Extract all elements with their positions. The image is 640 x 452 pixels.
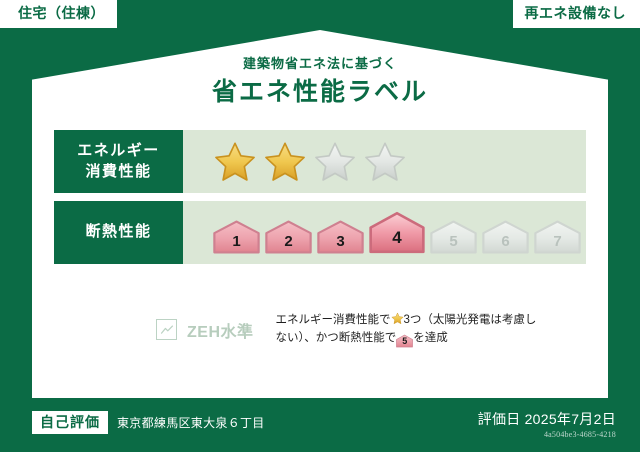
energy-label-line-1: エネルギー	[77, 141, 160, 161]
title-block: 建築物省エネ法に基づく 省エネ性能ラベル	[32, 56, 608, 107]
zeh-desc-star-count: 3つ（太陽光発電	[404, 314, 491, 326]
insulation-performance-value: 1234567	[183, 201, 586, 264]
property-address: 東京都練馬区東大泉６丁目	[117, 414, 265, 431]
insulation-level-value: 3	[336, 233, 344, 255]
insulation-level-value: 5	[449, 233, 457, 255]
energy-performance-value	[183, 130, 586, 193]
insulation-level-value: 7	[553, 233, 561, 255]
zeh-desc-part-1: エネルギー消費性能で	[276, 314, 391, 326]
star-rating	[213, 140, 407, 184]
insulation-level-4: 4	[369, 210, 425, 255]
insulation-level-value: 6	[501, 233, 509, 255]
insulation-level-7: 7	[534, 219, 581, 255]
insulation-performance-label: 断熱性能	[54, 201, 183, 264]
inline-star-icon	[391, 312, 404, 325]
insulation-level-value: 4	[392, 228, 401, 255]
insulation-performance-row: 断熱性能 1234567	[54, 201, 586, 264]
insulation-level-2: 2	[265, 219, 312, 255]
renewable-energy-tag: 再エネ設備なし	[513, 0, 640, 28]
insulation-level-scale: 1234567	[213, 210, 581, 255]
insulation-level-5: 5	[430, 219, 477, 255]
star-empty-3	[313, 140, 357, 184]
building-type-tag: 住宅（住棟）	[0, 0, 117, 28]
energy-label-line-2: 消費性能	[85, 162, 151, 182]
evaluation-date-label: 評価日	[478, 411, 521, 427]
footer-left-group: 自己評価 東京都練馬区東大泉６丁目	[32, 411, 265, 434]
metric-rows: エネルギー 消費性能 断熱性能 1234567	[54, 130, 586, 272]
zeh-standard-description: エネルギー消費性能で 3つ（太陽光発電は考慮しない）、かつ断熱性能で 5を達成	[276, 312, 548, 348]
zeh-house-icon	[156, 319, 177, 340]
star-empty-4	[363, 140, 407, 184]
star-filled-1	[213, 140, 257, 184]
energy-performance-label: 住宅（住棟） 再エネ設備なし 建築物省エネ法に基づく 省エネ性能ラベル エネルギ…	[0, 0, 640, 452]
footer-right-group: 評価日2025年7月2日 4a504be3-4685-4218	[478, 411, 616, 439]
insulation-level-1: 1	[213, 219, 260, 255]
insulation-level-value: 2	[284, 233, 292, 255]
zeh-desc-part-3: を達成	[413, 332, 448, 344]
insulation-level-value: 1	[232, 233, 240, 255]
zeh-standard-name: ZEH水準	[187, 318, 254, 342]
page-title: 省エネ性能ラベル	[32, 77, 608, 107]
evaluation-type-badge: 自己評価	[32, 411, 108, 434]
inline-house-value: 5	[396, 334, 413, 348]
evaluation-id: 4a504be3-4685-4218	[478, 430, 616, 439]
evaluation-date-value: 2025年7月2日	[525, 411, 616, 427]
insulation-label-line-1: 断熱性能	[85, 222, 151, 242]
insulation-level-3: 3	[317, 219, 364, 255]
zeh-standard-block: ZEH水準 エネルギー消費性能で 3つ（太陽光発電は考慮しない）、かつ断熱性能で…	[156, 312, 548, 348]
insulation-level-6: 6	[482, 219, 529, 255]
inline-house-badge: 5	[396, 334, 413, 348]
label-footer: 自己評価 東京都練馬区東大泉６丁目 評価日2025年7月2日 4a504be3-…	[0, 398, 640, 452]
title-subtitle: 建築物省エネ法に基づく	[32, 56, 608, 72]
energy-performance-label: エネルギー 消費性能	[54, 130, 183, 193]
energy-performance-row: エネルギー 消費性能	[54, 130, 586, 193]
star-filled-2	[263, 140, 307, 184]
evaluation-date: 評価日2025年7月2日	[478, 411, 616, 428]
label-card: 建築物省エネ法に基づく 省エネ性能ラベル エネルギー 消費性能	[32, 30, 608, 398]
